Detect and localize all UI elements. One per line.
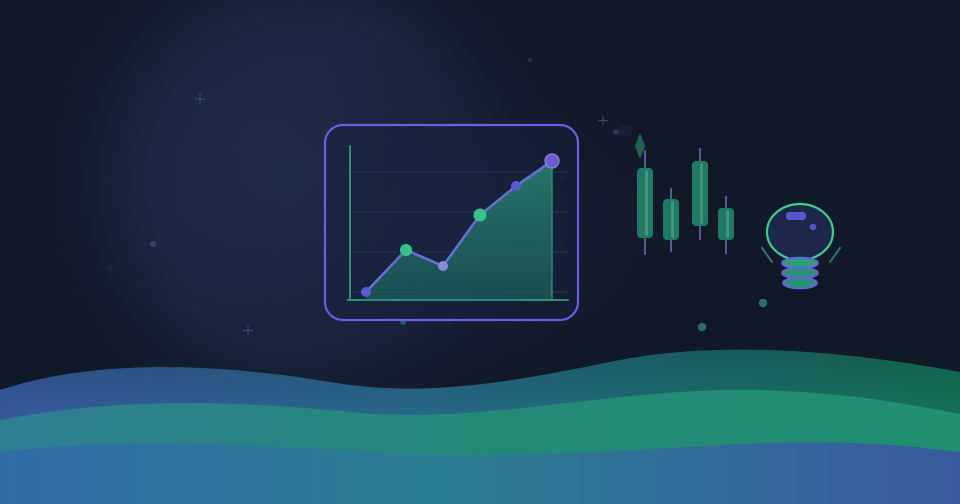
- wave-layer: [0, 0, 960, 504]
- illustration-canvas: Financial Forecast Illustration Growth T…: [0, 0, 960, 504]
